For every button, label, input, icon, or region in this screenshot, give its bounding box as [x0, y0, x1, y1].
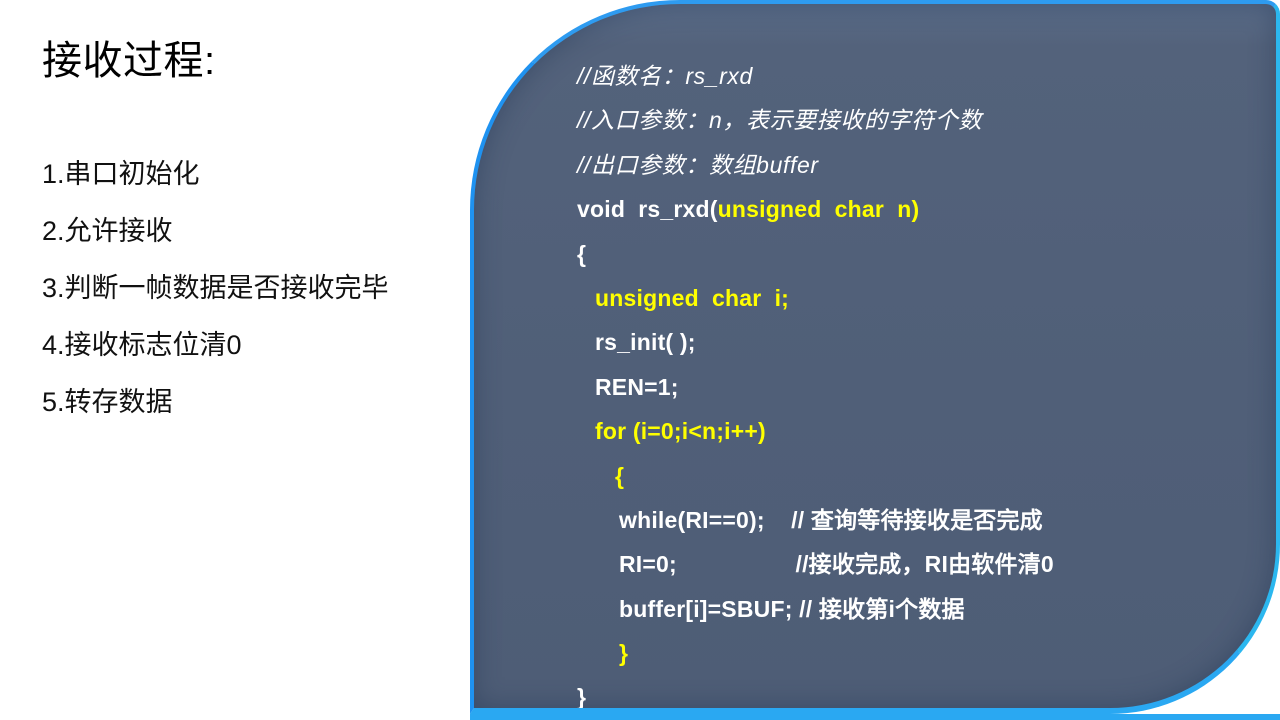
code-token: for (i=0;i<n;i++) — [595, 418, 766, 444]
list-item: 3.判断一帧数据是否接收完毕 — [42, 275, 460, 302]
code-line: } — [577, 675, 1276, 714]
code-token: { — [577, 241, 586, 267]
list-item: 2.允许接收 — [42, 218, 460, 245]
code-block: //函数名：rs_rxd//入口参数：n，表示要接收的字符个数//出口参数：数组… — [474, 4, 1276, 708]
code-line: { — [577, 232, 1276, 276]
code-token: unsigned char i; — [595, 285, 789, 311]
code-token: { — [615, 463, 624, 489]
code-token: void rs_rxd( — [577, 196, 718, 222]
code-line: for (i=0;i<n;i++) — [577, 409, 1276, 453]
code-line: //入口参数：n，表示要接收的字符个数 — [577, 98, 1276, 142]
code-token: //出口参数：数组buffer — [577, 152, 819, 178]
code-line: } — [577, 631, 1276, 675]
steps-list: 1.串口初始化2.允许接收3.判断一帧数据是否接收完毕4.接收标志位清05.转存… — [42, 161, 460, 416]
left-content-pane: 接收过程: 1.串口初始化2.允许接收3.判断一帧数据是否接收完毕4.接收标志位… — [0, 0, 470, 720]
list-item: 5.转存数据 — [42, 389, 460, 416]
code-panel: //函数名：rs_rxd//入口参数：n，表示要接收的字符个数//出口参数：数组… — [470, 0, 1280, 714]
code-token: //函数名：rs_rxd — [577, 63, 753, 89]
code-token: } — [577, 684, 586, 710]
code-token: //入口参数：n，表示要接收的字符个数 — [577, 107, 982, 133]
code-token: while(RI==0); // 查询等待接收是否完成 — [619, 507, 1043, 533]
code-line: //函数名：rs_rxd — [577, 54, 1276, 98]
code-line: REN=1; — [577, 365, 1276, 409]
code-token: rs_init( ); — [595, 329, 696, 355]
page-title: 接收过程: — [42, 28, 460, 85]
list-item: 1.串口初始化 — [42, 161, 460, 188]
code-line: RI=0; //接收完成，RI由软件清0 — [577, 542, 1276, 586]
code-line: buffer[i]=SBUF; // 接收第i个数据 — [577, 587, 1276, 631]
code-token: unsigned char n) — [718, 196, 920, 222]
panel-bottom-accent-strip — [470, 714, 1280, 720]
code-token: } — [619, 640, 628, 666]
code-line: rs_init( ); — [577, 320, 1276, 364]
code-token: RI=0; //接收完成，RI由软件清0 — [619, 551, 1054, 577]
code-line: //出口参数：数组buffer — [577, 143, 1276, 187]
list-item: 4.接收标志位清0 — [42, 332, 460, 359]
code-line: unsigned char i; — [577, 276, 1276, 320]
code-token: REN=1; — [595, 374, 679, 400]
code-line: { — [577, 454, 1276, 498]
code-token: buffer[i]=SBUF; // 接收第i个数据 — [619, 596, 965, 622]
code-line: void rs_rxd(unsigned char n) — [577, 187, 1276, 231]
code-line: while(RI==0); // 查询等待接收是否完成 — [577, 498, 1276, 542]
